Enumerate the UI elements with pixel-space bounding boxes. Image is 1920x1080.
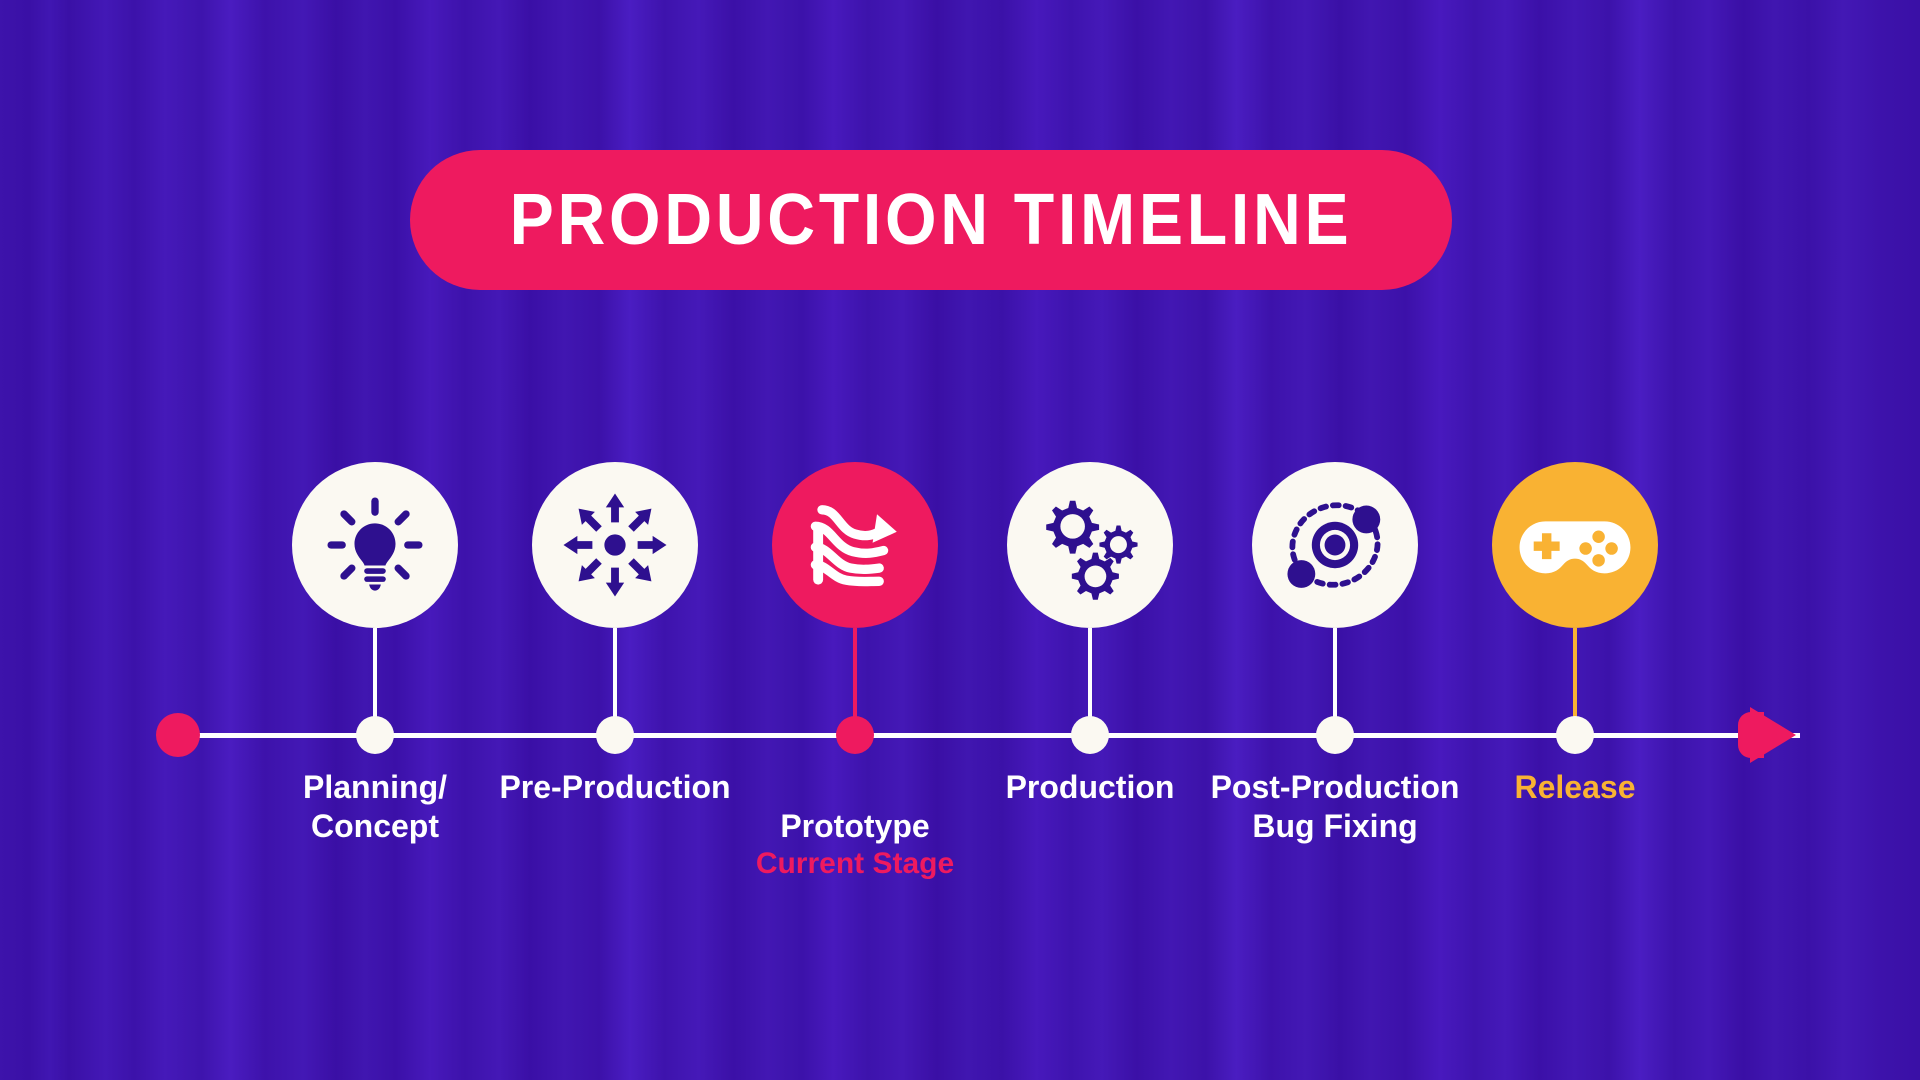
atom-orbit-icon (1277, 487, 1393, 603)
stage-dot-post-production[interactable] (1316, 716, 1354, 754)
stage-bubble-planning[interactable] (292, 462, 458, 628)
stage-bubble-post-production[interactable] (1252, 462, 1418, 628)
stage-bubble-prototype[interactable] (772, 462, 938, 628)
stage-dot-planning[interactable] (356, 716, 394, 754)
stage-label-release: Release (1355, 768, 1795, 807)
prototype-flow-icon (800, 490, 910, 600)
stage-label-prototype-text: Prototype (780, 808, 929, 844)
timeline-end-arrow-icon (1750, 707, 1796, 763)
gamepad-icon (1516, 486, 1634, 604)
stage-bubble-pre-production[interactable] (532, 462, 698, 628)
page-title: PRODUCTION TIMELINE (510, 179, 1353, 261)
stage-dot-production[interactable] (1071, 716, 1109, 754)
stage-dot-release[interactable] (1556, 716, 1594, 754)
stage-bubble-production[interactable] (1007, 462, 1173, 628)
stage-dot-pre-production[interactable] (596, 716, 634, 754)
timeline-start-dot (156, 713, 200, 757)
gears-icon (1031, 486, 1149, 604)
expand-arrows-icon (559, 489, 671, 601)
stage-current-stage-badge: Current Stage (635, 846, 1075, 883)
lightbulb-icon (321, 491, 429, 599)
stage-dot-prototype[interactable] (836, 716, 874, 754)
stage-bubble-release[interactable] (1492, 462, 1658, 628)
timeline-infographic: PRODUCTION TIMELINE (0, 0, 1920, 1080)
title-banner: PRODUCTION TIMELINE (410, 150, 1452, 290)
